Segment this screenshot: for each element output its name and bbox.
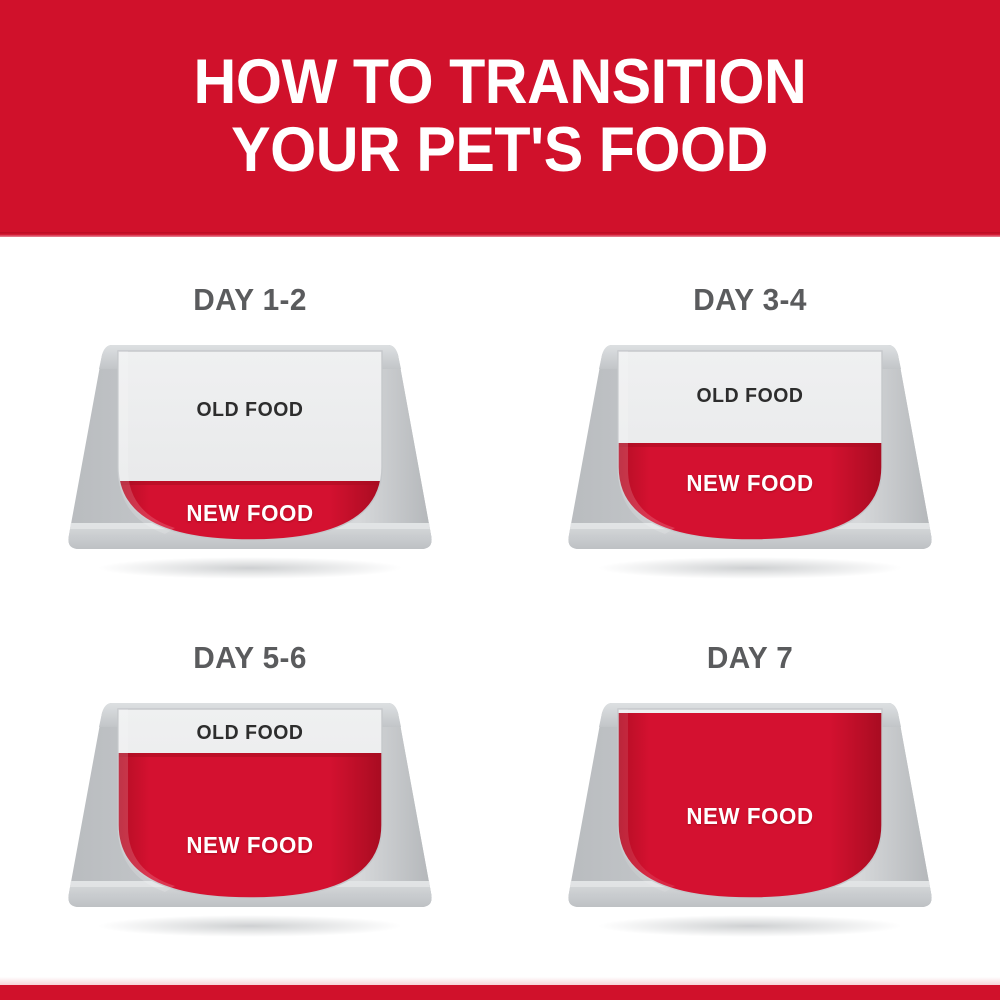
step-panel-day-3-4: DAY 3-4 [500, 240, 1000, 612]
header-banner: HOW TO TRANSITION YOUR PET'S FOOD [0, 0, 1000, 232]
day-label-3: DAY 5-6 [10, 640, 490, 676]
footer-glow [0, 977, 1000, 985]
bowl-illustration-3 [65, 695, 435, 945]
header-title-block: HOW TO TRANSITION YOUR PET'S FOOD [0, 0, 1000, 232]
step-panel-day-7: DAY 7 [500, 598, 1000, 970]
step-panel-day-1-2: DAY 1-2 [0, 240, 500, 612]
bowl-day-3-4: OLD FOOD NEW FOOD [565, 337, 935, 587]
step-panel-day-5-6: DAY 5-6 [0, 598, 500, 970]
day-label-2: DAY 3-4 [510, 282, 990, 318]
bowl-day-1-2: OLD FOOD NEW FOOD [65, 337, 435, 587]
bowl-day-7: NEW FOOD [565, 695, 935, 945]
infographic-root: HOW TO TRANSITION YOUR PET'S FOOD DAY 1-… [0, 0, 1000, 1000]
footer-bar [0, 985, 1000, 1000]
bowl-illustration-2 [565, 337, 935, 587]
bowl-illustration-1 [65, 337, 435, 587]
new-food-fill-4 [618, 713, 882, 945]
page-title-line-2: YOUR PET'S FOOD [232, 116, 769, 184]
header-bottom-rule [0, 232, 1000, 237]
bowl-illustration-4 [565, 695, 935, 945]
day-label-4: DAY 7 [510, 640, 990, 676]
day-label-1: DAY 1-2 [10, 282, 490, 318]
steps-grid: DAY 1-2 [0, 240, 1000, 985]
bowl-day-5-6: OLD FOOD NEW FOOD [65, 695, 435, 945]
page-title-line-1: HOW TO TRANSITION [194, 48, 807, 116]
